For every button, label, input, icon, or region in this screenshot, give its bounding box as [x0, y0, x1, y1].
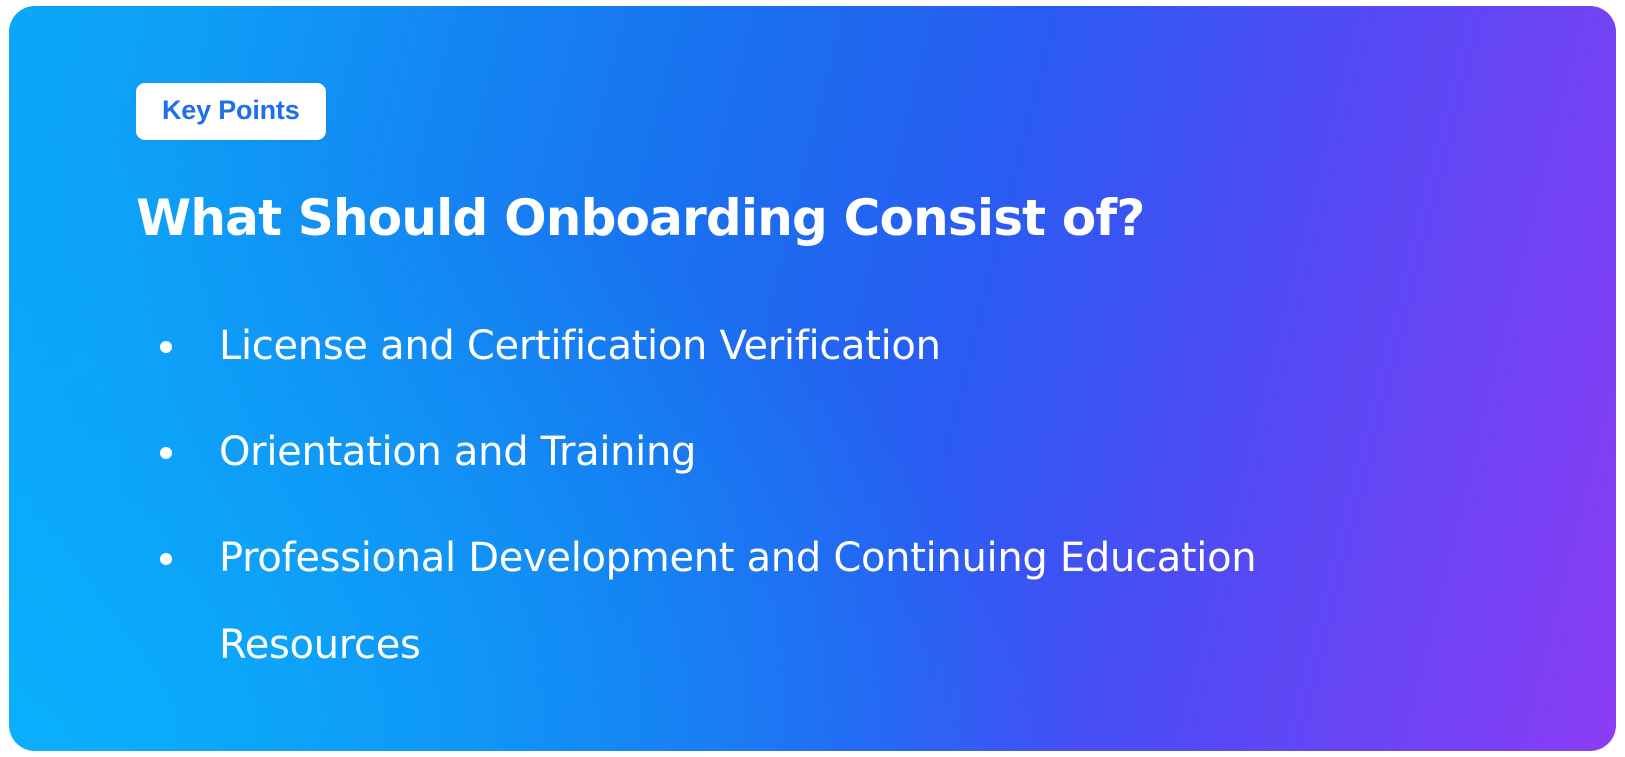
key-points-badge-label: Key Points	[162, 97, 300, 124]
list-item-label: Professional Development and Continuing …	[219, 515, 1406, 689]
gradient-card: Key Points What Should Onboarding Consis…	[9, 6, 1616, 751]
slide-content: Key Points What Should Onboarding Consis…	[136, 83, 1556, 140]
key-points-list: License and Certification Verification O…	[156, 303, 1406, 689]
list-item: Orientation and Training	[156, 409, 1406, 496]
list-item: Professional Development and Continuing …	[156, 515, 1406, 689]
list-item-label: License and Certification Verification	[219, 303, 1406, 390]
bullet-dot-icon	[160, 447, 172, 459]
list-item: License and Certification Verification	[156, 303, 1406, 390]
slide-canvas: Key Points What Should Onboarding Consis…	[0, 0, 1625, 757]
key-points-badge: Key Points	[136, 83, 326, 140]
bullet-dot-icon	[160, 553, 172, 565]
list-item-label: Orientation and Training	[219, 409, 1406, 496]
page-title: What Should Onboarding Consist of?	[136, 191, 1145, 246]
bullet-dot-icon	[160, 341, 172, 353]
